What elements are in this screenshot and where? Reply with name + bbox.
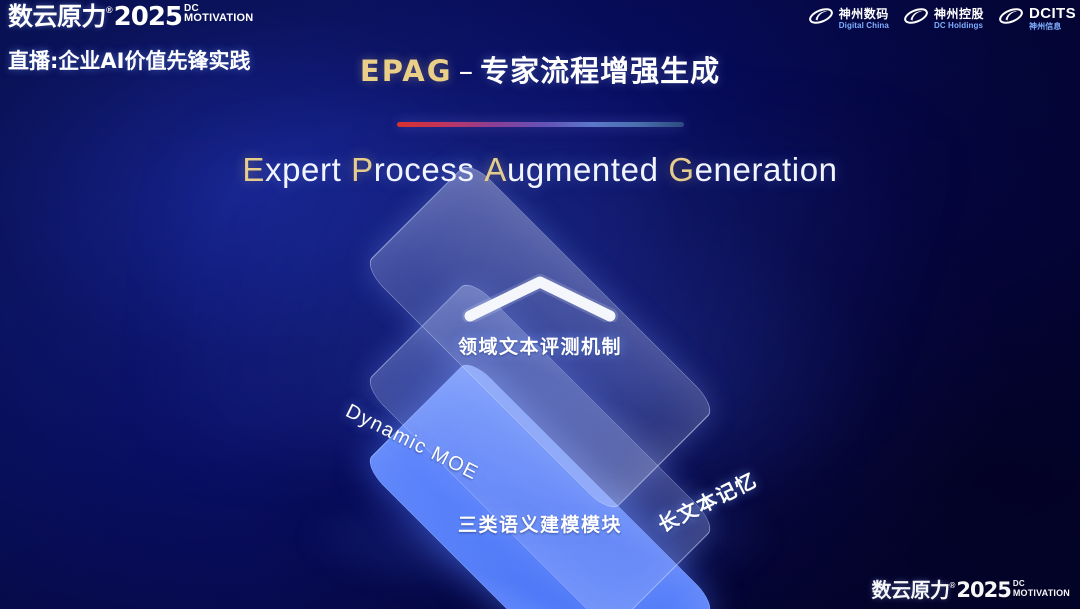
partner-text-dc-holdings: 神州控股 DC Holdings bbox=[934, 8, 984, 30]
subtitle-cap-e: E bbox=[242, 151, 265, 188]
brand-dc-motivation: DC MOTIVATION bbox=[184, 4, 253, 23]
partner-logo-bar: 神州数码 Digital China 神州控股 DC Holdings bbox=[808, 5, 1076, 32]
brand-motivation-text: MOTIVATION bbox=[184, 14, 253, 23]
subtitle-rest-process: rocess bbox=[374, 151, 475, 188]
brand-year: 2025 bbox=[114, 3, 182, 31]
stack-caption-bottom: 三类语义建模模块 bbox=[458, 510, 622, 537]
gradient-divider bbox=[397, 122, 684, 127]
partner-name-en: 神州信息 bbox=[1029, 23, 1076, 31]
livestream-label: 直播:企业AI价值先锋实践 bbox=[8, 47, 250, 75]
brand-dc-text: DC bbox=[1013, 580, 1070, 588]
brand-year: 2025 bbox=[956, 579, 1010, 601]
partner-name-en: Digital China bbox=[839, 22, 889, 30]
stack-caption-top: 领域文本评测机制 bbox=[458, 332, 622, 359]
subtitle-rest-expert: xpert bbox=[265, 151, 341, 188]
swirl-logo-icon bbox=[903, 5, 929, 32]
brand-name-cn: 数云原力 bbox=[871, 579, 949, 601]
subtitle-rest-augmented: ugmented bbox=[507, 151, 659, 188]
partner-logo-dc-holdings: 神州控股 DC Holdings bbox=[903, 5, 984, 32]
headline-chinese: 专家流程增强生成 bbox=[480, 54, 720, 88]
subtitle-rest-generation: eneration bbox=[695, 151, 838, 188]
brand-registered-mark: ® bbox=[106, 5, 113, 15]
brand-registered-mark: ® bbox=[949, 581, 955, 590]
subtitle-cap-g: G bbox=[668, 151, 694, 188]
partner-name-cn: 神州控股 bbox=[934, 8, 984, 20]
subtitle-cap-p: P bbox=[351, 151, 374, 188]
headline-acronym: EPAG bbox=[360, 54, 453, 88]
partner-text-dcits: DCITS 神州信息 bbox=[1029, 6, 1076, 31]
slide-canvas: 数云原力 ® 2025 DC MOTIVATION 直播:企业AI价值先锋实践 … bbox=[0, 0, 1080, 609]
headline-dash: – bbox=[459, 54, 475, 88]
partner-logo-dcits: DCITS 神州信息 bbox=[998, 5, 1076, 32]
brand-logo-watermark: 数云原力 ® 2025 DC MOTIVATION bbox=[871, 579, 1070, 601]
brand-motivation-text: MOTIVATION bbox=[1013, 589, 1070, 597]
partner-name-en: DC Holdings bbox=[934, 22, 984, 30]
subtitle-inner: Expert Process Augmented Generation bbox=[242, 150, 837, 190]
partner-text-digital-china: 神州数码 Digital China bbox=[839, 8, 889, 30]
brand-dc-motivation: DC MOTIVATION bbox=[1013, 580, 1070, 597]
layered-stack-diagram: 领域文本评测机制 Dynamic MOE 长文本记忆 三类语义建模模块 bbox=[290, 228, 790, 568]
partner-name-cn: 神州数码 bbox=[839, 8, 889, 20]
brand-name-cn: 数云原力 bbox=[8, 3, 106, 31]
slide-subtitle: Expert Process Augmented Generation bbox=[0, 150, 1080, 190]
partner-name-cn: DCITS bbox=[1029, 6, 1076, 21]
subtitle-cap-a: A bbox=[484, 151, 507, 188]
headline-inner: EPAG–专家流程增强生成 bbox=[360, 52, 720, 90]
swirl-logo-icon bbox=[808, 5, 834, 32]
chevron-up-icon bbox=[462, 274, 618, 322]
swirl-logo-icon bbox=[998, 5, 1024, 32]
brand-logo-topleft: 数云原力 ® 2025 DC MOTIVATION bbox=[8, 3, 253, 31]
partner-logo-digital-china: 神州数码 Digital China bbox=[808, 5, 889, 32]
